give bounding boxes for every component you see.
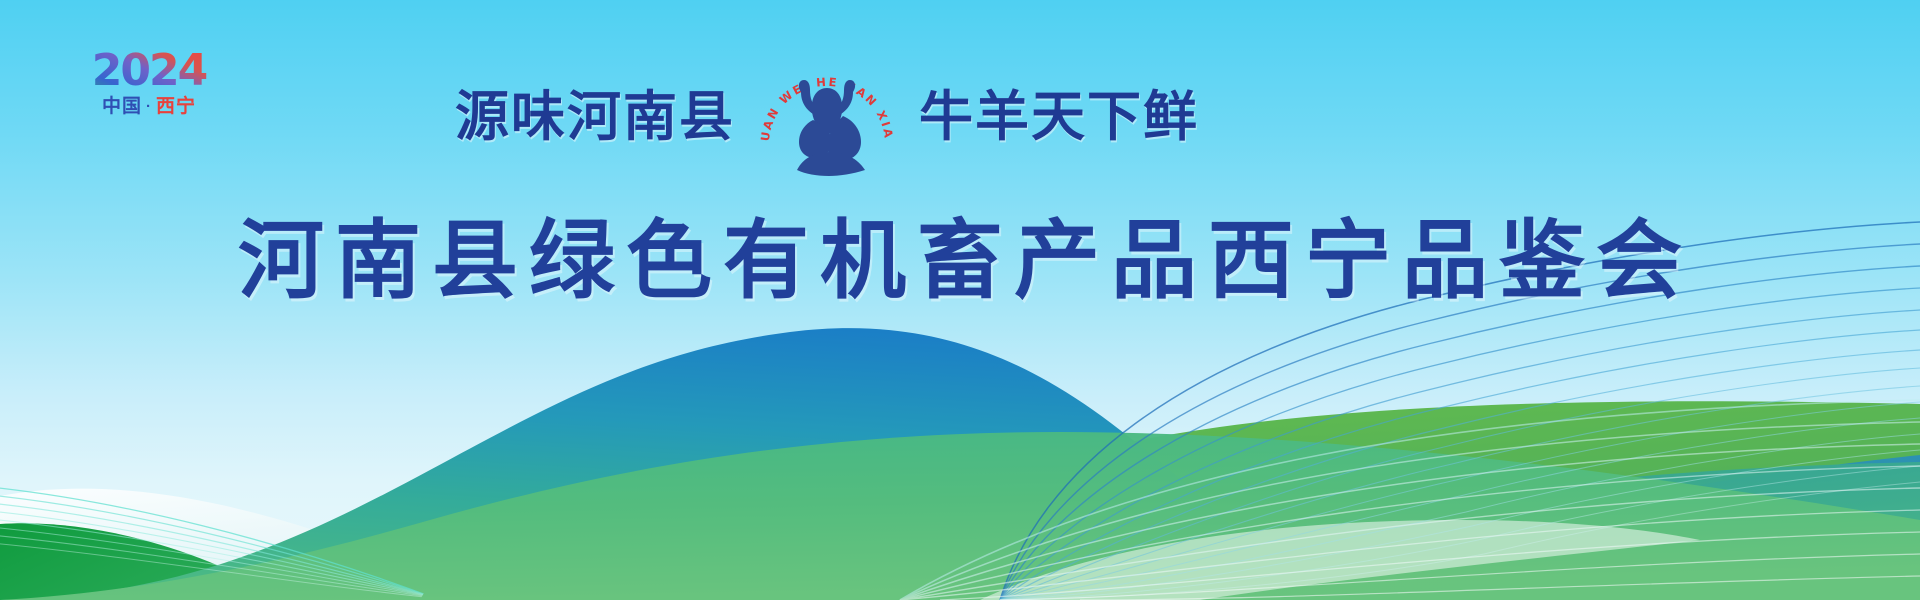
yak-bull-emblem: YUAN WEI HE NAN XIAN (757, 58, 897, 176)
year-2024-mark: 2024 (84, 48, 214, 94)
brand-left-text: 源味河南县 (455, 90, 735, 144)
brand-right-text: 牛羊天下鲜 (919, 90, 1199, 144)
event-banner: 2024 中国 · 西宁 源味河南县 YUAN WEI HE NAN XIAN (0, 0, 1920, 600)
brand-lockup: 源味河南县 YUAN WEI HE NAN XIAN (455, 62, 1199, 172)
city-country-label: 中国 (102, 97, 142, 116)
year-text: 2024 (92, 48, 207, 94)
page-title: 河南县绿色有机畜产品西宁品鉴会 (0, 218, 1920, 304)
city-name-label: 西宁 (156, 97, 196, 116)
city-line: 中国 · 西宁 (84, 97, 214, 116)
year-logo: 2024 中国 · 西宁 (84, 48, 214, 116)
city-separator: · (146, 99, 152, 114)
